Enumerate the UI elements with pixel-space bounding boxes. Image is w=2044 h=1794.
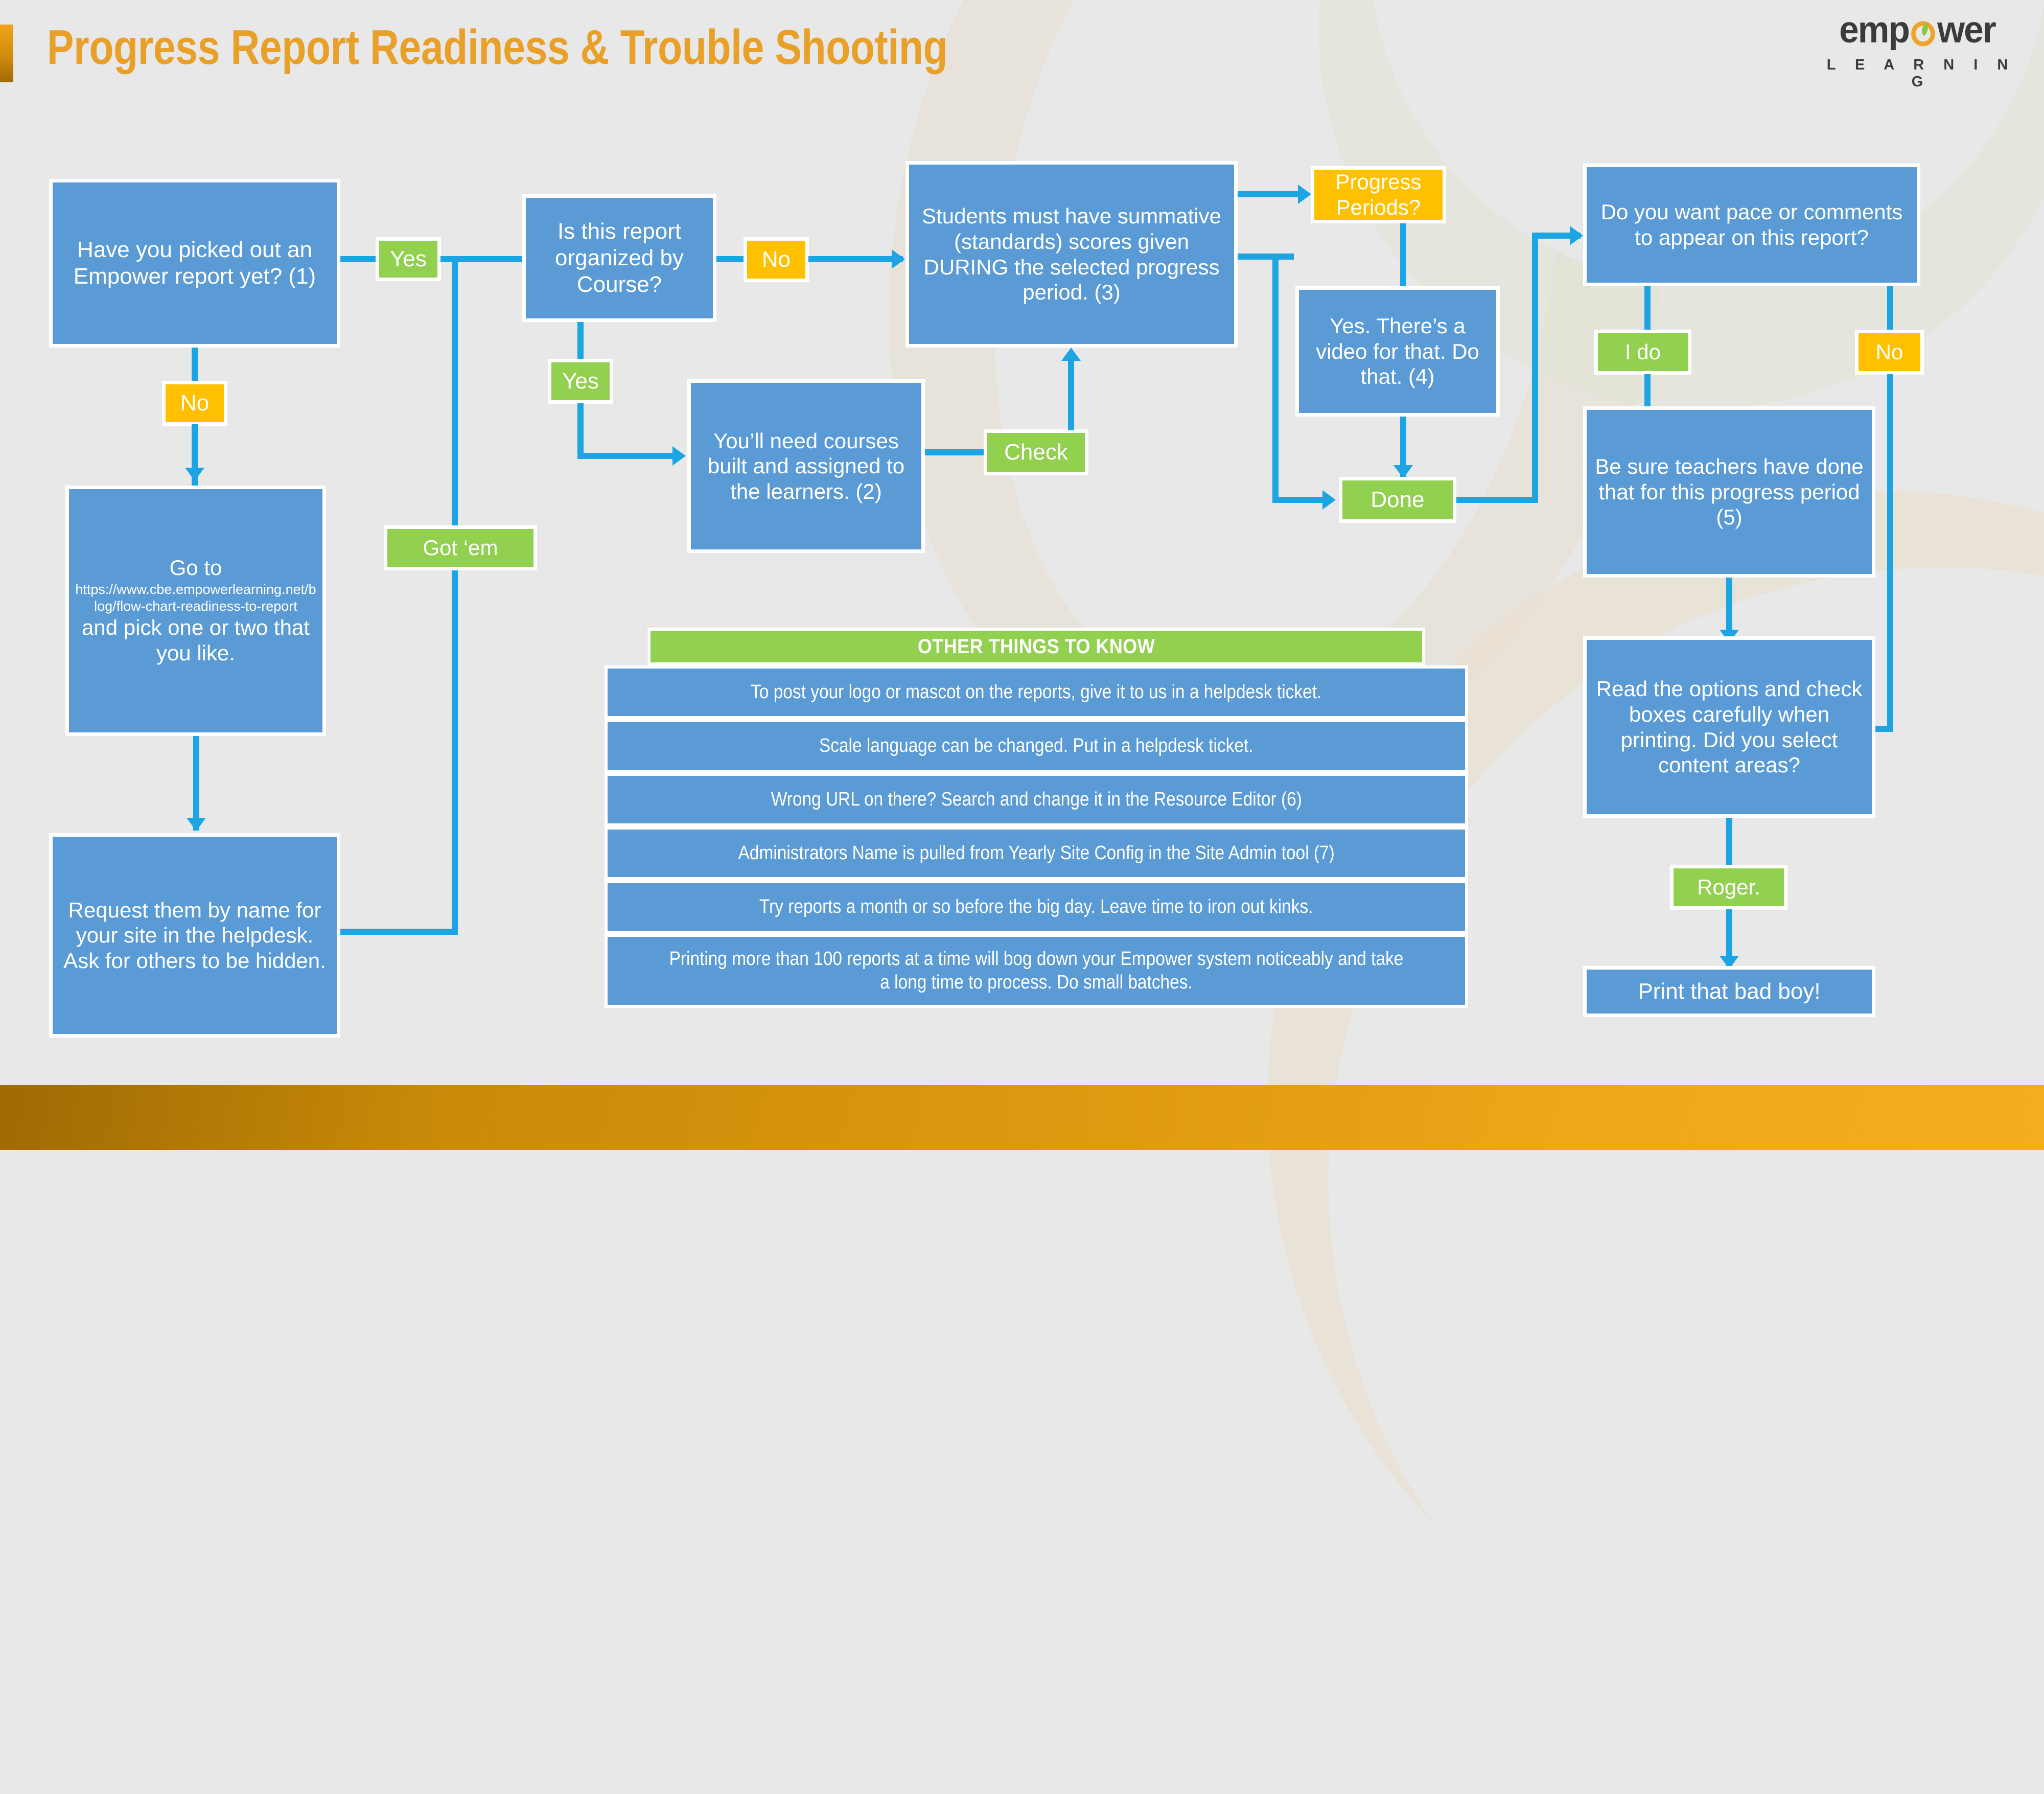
node-courses-built[interactable]: You’ll need courses built and assigned t… [687, 379, 925, 553]
node-teachers-done-that[interactable]: Be sure teachers have done that for this… [1583, 406, 1875, 578]
label-i-do[interactable]: I do [1594, 330, 1691, 375]
node-summative-scores[interactable]: Students must have summative (standards)… [905, 161, 1238, 348]
connector-no3-down [1887, 374, 1893, 732]
table-row[interactable]: Wrong URL on there? Search and change it… [605, 773, 1468, 826]
arrowhead-summative-progress [1298, 185, 1311, 204]
node-read-options[interactable]: Read the options and check boxes careful… [1583, 636, 1875, 818]
table-row[interactable]: To post your logo or mascot on the repor… [605, 665, 1468, 719]
connector-q3-no [1887, 286, 1893, 332]
arrowhead-no2-to-summative [892, 249, 905, 269]
table-header: OTHER THINGS TO KNOW [648, 628, 1425, 665]
connector-request-right [340, 929, 458, 935]
arrowhead-summative-to-done [1322, 490, 1336, 510]
connector-q2-yes [577, 322, 584, 363]
connector-request-up [452, 259, 458, 935]
node-goto-url[interactable]: Go to https://www.cbe.empowerlearning.ne… [65, 486, 326, 736]
logo-text-emp: emp [1839, 11, 1909, 49]
connector-q1-yes [340, 256, 376, 262]
table-row[interactable]: Administrators Name is pulled from Yearl… [605, 826, 1468, 880]
connector-done-right [1456, 497, 1538, 503]
logo-leaf-o-icon [1910, 16, 1937, 44]
footer-accent-bar [0, 1085, 2044, 1150]
logo-text-wer: wer [1937, 11, 1995, 49]
label-yes-organized-by-course[interactable]: Yes [548, 359, 613, 404]
label-no-organized-by-course[interactable]: No [744, 237, 809, 282]
table-row[interactable]: Printing more than 100 reports at a time… [605, 934, 1468, 1008]
connector-summative-to-done [1272, 497, 1326, 503]
connector-q1-no [192, 348, 198, 384]
connector-read-to-roger [1726, 818, 1732, 869]
arrowhead-yes2-to-courses [672, 446, 686, 466]
connector-summative-down [1272, 254, 1279, 499]
connector-q2-no [716, 256, 745, 262]
label-check[interactable]: Check [984, 429, 1088, 475]
slide-canvas: Progress Report Readiness & Trouble Shoo… [0, 0, 2044, 1150]
arrowhead-check-to-summative [1061, 348, 1081, 361]
connector-yes2-down [577, 403, 584, 459]
label-no-report-picked[interactable]: No [162, 381, 227, 426]
node-organized-by-course[interactable]: Is this report organized by Course? [522, 194, 716, 322]
label-done[interactable]: Done [1339, 477, 1456, 523]
connector-summative-progress [1238, 191, 1304, 197]
arrowhead-goto-to-request [187, 818, 206, 831]
other-things-to-know-table: OTHER THINGS TO KNOW To post your logo o… [605, 628, 1468, 1008]
label-progress-periods[interactable]: Progress Periods? [1311, 166, 1446, 223]
connector-done-up [1532, 233, 1538, 502]
page-title: Progress Report Readiness & Trouble Shoo… [47, 19, 947, 76]
empower-learning-logo: emp wer L E A R N I N G [1815, 11, 2019, 90]
connector-courses-check [925, 449, 986, 455]
logo-wordmark: emp wer [1820, 11, 2014, 49]
goto-lead-text: Go to [74, 555, 317, 581]
connector-ido-to-teachers [1644, 374, 1651, 410]
table-row[interactable]: Try reports a month or so before the big… [605, 880, 1468, 934]
label-no-pace-comments[interactable]: No [1855, 330, 1924, 375]
arrowhead-done-to-q3 [1570, 226, 1583, 245]
connector-goto-to-request [193, 736, 199, 831]
label-yes-report-picked[interactable]: Yes [376, 237, 441, 281]
logo-subtitle: L E A R N I N G [1823, 57, 2019, 90]
connector-no2-to-summative [808, 256, 903, 262]
node-video-for-that[interactable]: Yes. There’s a video for that. Do that. … [1295, 286, 1500, 417]
connector-progress-video [1400, 223, 1406, 290]
table-row[interactable]: Scale language can be changed. Put in a … [605, 719, 1468, 773]
connector-q3-ido [1644, 286, 1651, 332]
connector-summative-right [1238, 254, 1294, 260]
node-print-that-bad-boy[interactable]: Print that bad boy! [1583, 966, 1875, 1017]
connector-check-up [1068, 358, 1074, 430]
goto-tail-text: and pick one or two that you like. [74, 615, 317, 666]
label-roger[interactable]: Roger. [1670, 865, 1787, 910]
goto-url-text: https://www.cbe.empowerlearning.net/blog… [74, 581, 317, 615]
arrowhead-no1-to-goto [185, 468, 204, 481]
node-pace-or-comments[interactable]: Do you want pace or comments to appear o… [1583, 164, 1920, 286]
title-accent-bar [0, 25, 13, 82]
node-request-reports[interactable]: Request them by name for your site in th… [49, 833, 340, 1038]
connector-yes2-right [577, 453, 680, 459]
label-got-em[interactable]: Got ‘em [384, 525, 537, 570]
node-picked-report[interactable]: Have you picked out an Empower report ye… [49, 179, 340, 348]
